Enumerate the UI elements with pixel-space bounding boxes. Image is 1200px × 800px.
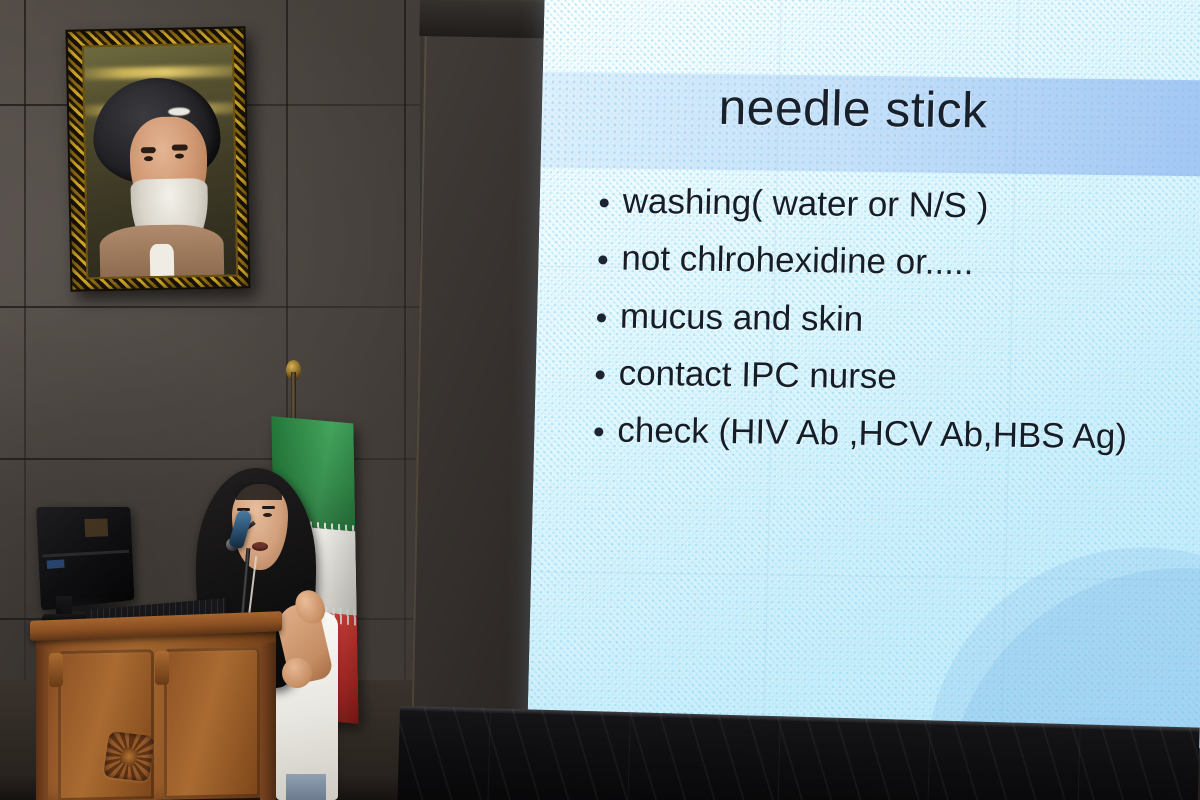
slide-bullet-item: not chlrohexidine or..... (598, 238, 1200, 287)
wall-grout-line (0, 306, 470, 308)
bullet-text: check (HIV Ab ,HCV Ab,HBS Ag) (617, 410, 1128, 458)
slide-bullet-item: contact IPC nurse (595, 352, 1200, 401)
monitor-label (84, 518, 108, 536)
podium-trim (49, 653, 63, 687)
bullet-dot-icon (598, 256, 607, 265)
bullet-dot-icon (594, 428, 603, 437)
bullet-text: mucus and skin (620, 295, 864, 339)
powerpoint-slide: needle stick washing( water or N/S ) not… (527, 0, 1200, 748)
speaker-eye (263, 513, 272, 517)
slide-bullet-item: mucus and skin (597, 295, 1200, 344)
podium-monitor[interactable] (36, 507, 134, 611)
speaker-mouth (252, 542, 268, 551)
wooden-podium (30, 616, 282, 800)
portrait-eyebrow (172, 144, 188, 150)
bullet-text: not chlrohexidine or..... (621, 238, 974, 284)
podium-panel (164, 647, 260, 799)
podium-body (36, 630, 276, 800)
podium-left-edge (36, 647, 48, 800)
podium-rosette-ornament (103, 731, 155, 782)
slide-bullet-item: check (HIV Ab ,HCV Ab,HBS Ag) (594, 410, 1200, 459)
bullet-dot-icon (597, 313, 606, 322)
slide-bullet-list: washing( water or N/S ) not chlrohexidin… (593, 180, 1200, 475)
speaker-hand (282, 658, 312, 688)
wall-grout-line (0, 458, 470, 460)
monitor-seam (43, 550, 129, 558)
podium-trim (155, 651, 169, 685)
projection-screen[interactable]: needle stick washing( water or N/S ) not… (527, 0, 1200, 748)
speaker-trousers (286, 774, 326, 800)
framed-portrait (66, 26, 251, 291)
monitor-badge (47, 559, 65, 568)
speaker-hairline (236, 482, 282, 500)
slide-bullet-item: washing( water or N/S ) (599, 180, 1200, 229)
lecture-hall-photo: needle stick washing( water or N/S ) not… (0, 0, 1200, 800)
slide-title: needle stick (541, 76, 1200, 143)
podium-panel (58, 649, 154, 800)
rosette-core (119, 746, 140, 767)
bullet-dot-icon (600, 198, 609, 207)
podium-right-edge (260, 642, 276, 800)
portrait-eyebrow (141, 147, 156, 153)
bullet-text: contact IPC nurse (618, 353, 897, 398)
portrait-canvas (82, 43, 238, 280)
bullet-dot-icon (596, 370, 605, 379)
bullet-text: washing( water or N/S ) (622, 181, 989, 227)
portrait-collar (150, 244, 174, 277)
portrait-light-band (82, 65, 238, 79)
speaker-eyebrow (262, 506, 275, 509)
